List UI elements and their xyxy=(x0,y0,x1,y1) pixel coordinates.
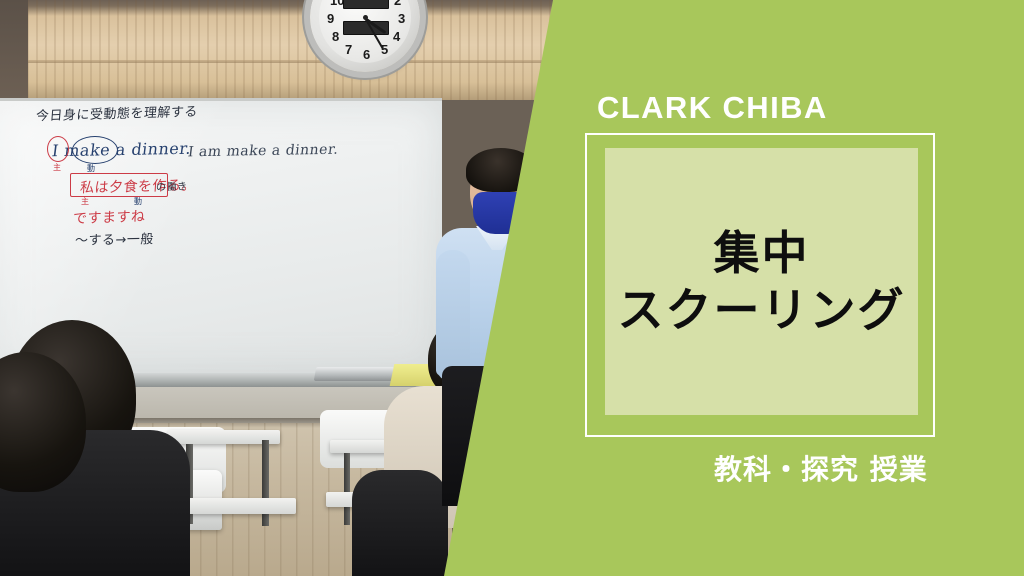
left-wall-edge xyxy=(0,0,28,100)
main-heading-line-1: 集中 xyxy=(714,225,810,281)
whiteboard-subject-label: 主 xyxy=(53,162,61,173)
clock-numeral: 7 xyxy=(345,42,352,57)
desk-leg-mid-a xyxy=(344,453,350,525)
clock-numeral: 8 xyxy=(332,29,339,44)
clock-numeral: 6 xyxy=(363,47,370,62)
clock-center-pin xyxy=(363,15,368,20)
whiteboard-subject-label-2: 主 xyxy=(81,196,89,207)
screenshot-canvas: 12 1 2 3 4 5 6 7 8 9 10 11 xyxy=(0,0,1024,576)
whiteboard-japanese-box xyxy=(70,173,168,197)
whiteboard-english-2: I am make a dinner. xyxy=(187,142,340,161)
main-heading-line-2: スクーリング xyxy=(618,282,906,338)
clock-numeral: 9 xyxy=(327,11,334,26)
subject-caption: 教科・探究 授業 xyxy=(714,448,928,488)
teacher-arm xyxy=(436,250,470,382)
clock-numeral: 3 xyxy=(398,11,405,26)
whiteboard-japanese-2: ですますね xyxy=(73,206,146,229)
clock-date-window-top xyxy=(343,0,389,9)
whiteboard-verb-label-2: 動 xyxy=(134,196,142,207)
whiteboard-subject-circle xyxy=(47,136,69,162)
whiteboard-japanese-3: 〜する→一般 xyxy=(75,228,155,248)
laptop-on-tray xyxy=(314,367,394,381)
whiteboard-verb-circle xyxy=(72,136,118,164)
main-heading: 集中 スクーリング xyxy=(605,148,918,415)
whiteboard-verb-label: 動 xyxy=(87,163,95,174)
clock-numeral: 4 xyxy=(393,29,400,44)
clock-face: 12 1 2 3 4 5 6 7 8 9 10 11 xyxy=(319,0,411,63)
brand-title: CLARK CHIBA xyxy=(597,90,828,126)
clock-numeral: 2 xyxy=(394,0,401,8)
student-body-right-2 xyxy=(352,470,448,576)
